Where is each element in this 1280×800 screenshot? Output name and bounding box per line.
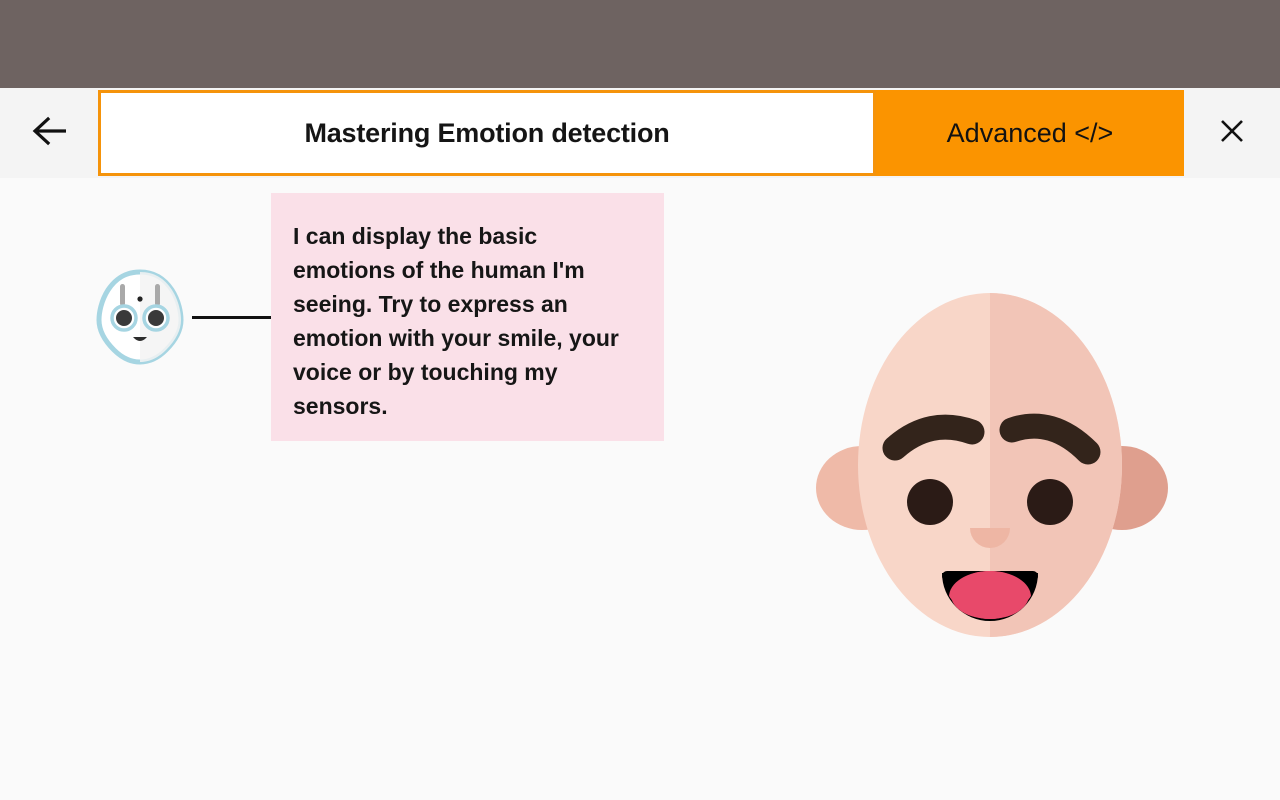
robot-head-icon [96, 268, 184, 366]
back-button[interactable] [22, 110, 76, 156]
right-eye [1027, 479, 1073, 525]
emotion-face [800, 290, 1180, 660]
speech-bubble: I can display the basic emotions of the … [271, 193, 664, 441]
lesson-title-box[interactable]: Mastering Emotion detection [98, 90, 876, 176]
tutorial-screen: Mastering Emotion detection Advanced </> [0, 0, 1280, 800]
advanced-mode-button[interactable]: Advanced </> [876, 90, 1184, 176]
close-button[interactable] [1205, 110, 1259, 156]
advanced-mode-label: Advanced </> [947, 118, 1114, 149]
bubble-connector-line [192, 316, 272, 319]
left-eye [907, 479, 953, 525]
top-status-bar [0, 0, 1280, 88]
close-icon [1217, 116, 1247, 151]
speech-bubble-text: I can display the basic emotions of the … [293, 219, 634, 423]
back-arrow-icon [30, 116, 68, 151]
page-title: Mastering Emotion detection [304, 118, 669, 149]
